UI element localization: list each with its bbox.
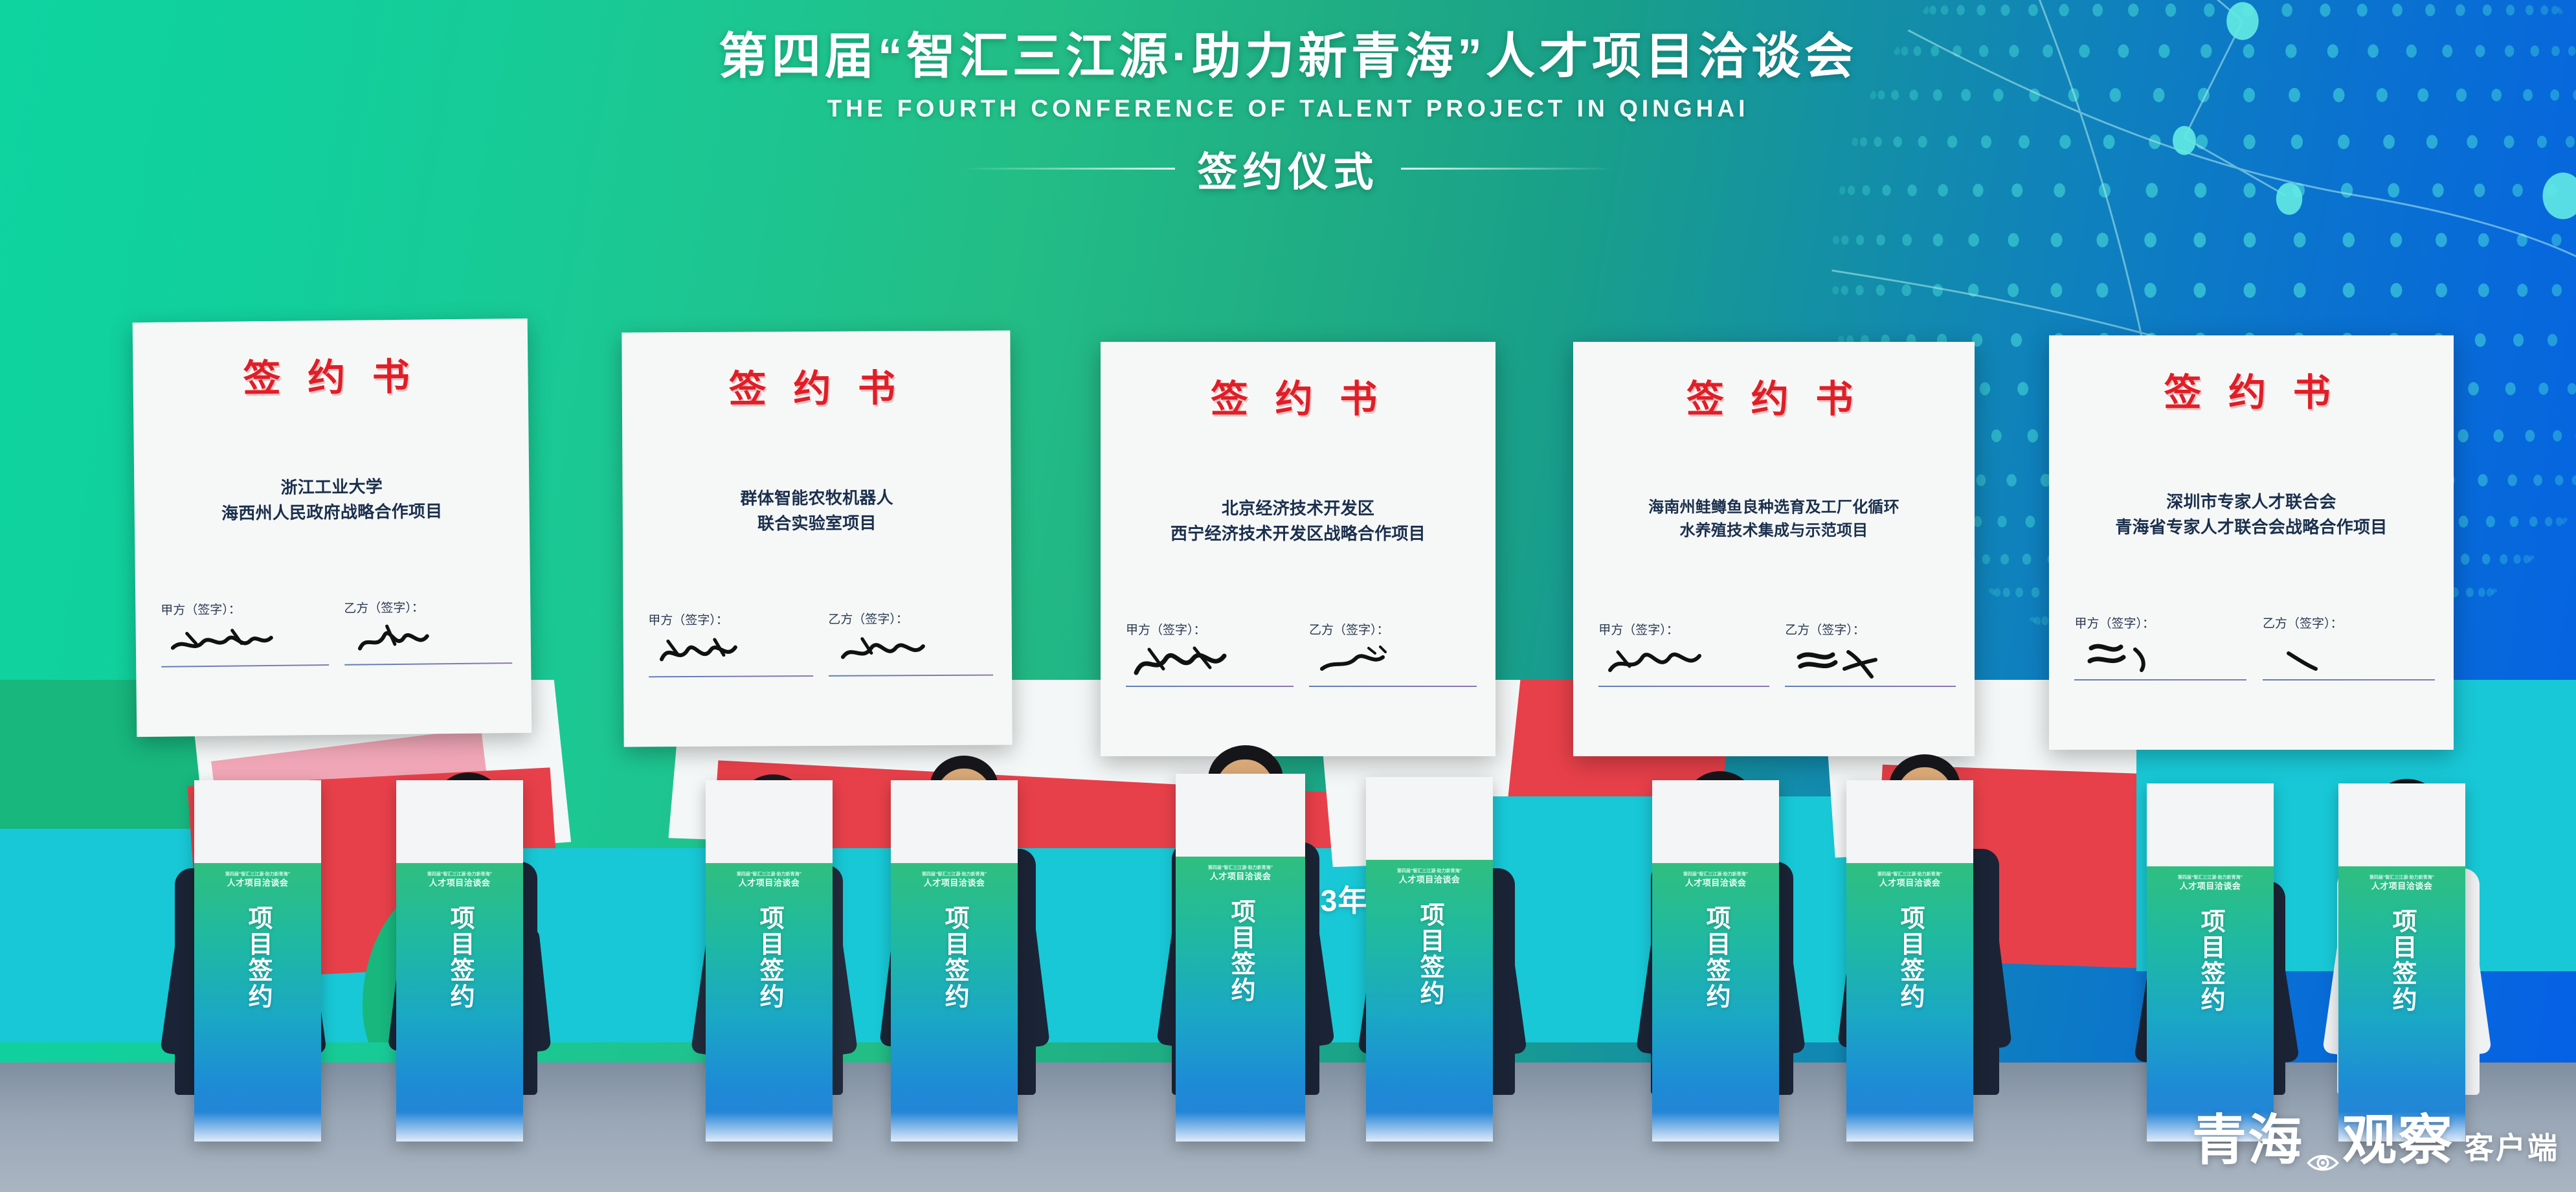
podium-snow-graphic xyxy=(194,1112,321,1141)
podium-logo: 第四届“智汇三江源·助力新青海” 人才项目洽谈会 xyxy=(737,872,801,888)
podium: 第四届“智汇三江源·助力新青海” 人才项目洽谈会 项目签约 xyxy=(1366,777,1493,1141)
podium-vertical-text: 项目签约 xyxy=(2195,908,2225,1013)
podium-snow-graphic xyxy=(891,1112,1018,1141)
podium-logo: 第四届“智汇三江源·助力新青海” 人才项目洽谈会 xyxy=(1397,869,1462,885)
podium-logo: 第四届“智汇三江源·助力新青海” 人才项目洽谈会 xyxy=(922,872,987,888)
ceremony-subtitle: 签约仪式 xyxy=(1197,139,1378,197)
podium-vertical-text: 项目签约 xyxy=(754,905,784,1009)
podium: 第四届“智汇三江源·助力新青海” 人才项目洽谈会 项目签约 xyxy=(1846,780,1973,1141)
podium-vertical-text: 项目签约 xyxy=(1701,905,1730,1009)
watermark-logo-part2: 观察 xyxy=(2342,1097,2454,1175)
stage-scene: 第四届“智汇三江源·助力新青海”人才项目洽谈会 THE FOURTH CONFE… xyxy=(0,0,2576,1192)
podium-vertical-text: 项目签约 xyxy=(1415,902,1444,1006)
podium-snow-graphic xyxy=(1176,1112,1305,1141)
podium-vertical-text: 项目签约 xyxy=(445,905,475,1009)
podium-logo: 第四届“智汇三江源·助力新青海” 人才项目洽谈会 xyxy=(427,872,492,888)
watermark-logo-part1: 青海 xyxy=(2192,1097,2303,1175)
podium-logo: 第四届“智汇三江源·助力新青海” 人才项目洽谈会 xyxy=(225,872,290,888)
podium-logo: 第四届“智汇三江源·助力新青海” 人才项目洽谈会 xyxy=(1877,872,1942,888)
podium-snow-graphic xyxy=(1652,1112,1779,1141)
podium: 第四届“智汇三江源·助力新青海” 人才项目洽谈会 项目签约 xyxy=(1652,780,1779,1141)
podium-vertical-text: 项目签约 xyxy=(2387,908,2417,1013)
podium-snow-graphic xyxy=(706,1112,833,1141)
podium: 第四届“智汇三江源·助力新青海” 人才项目洽谈会 项目签约 xyxy=(706,780,833,1141)
watermark-logo: 青海 观察 xyxy=(2192,1097,2454,1175)
podium: 第四届“智汇三江源·助力新青海” 人才项目洽谈会 项目签约 xyxy=(396,780,523,1141)
podium-vertical-text: 项目签约 xyxy=(939,905,969,1009)
page-title-english: THE FOURTH CONFERENCE OF TALENT PROJECT … xyxy=(0,95,2576,122)
podium-logo: 第四届“智汇三江源·助力新青海” 人才项目洽谈会 xyxy=(2178,875,2243,892)
podium-snow-graphic xyxy=(1846,1112,1973,1141)
podium-snow-graphic xyxy=(396,1112,523,1141)
podium: 第四届“智汇三江源·助力新青海” 人才项目洽谈会 项目签约 xyxy=(891,780,1018,1141)
subtitle-row: 签约仪式 xyxy=(0,139,2576,197)
rule-right xyxy=(1401,168,1615,170)
podium-logo: 第四届“智汇三江源·助力新青海” 人才项目洽谈会 xyxy=(1683,872,1748,888)
watermark: 青海 观察 客户端 xyxy=(2192,1097,2559,1175)
podium-logo: 第四届“智汇三江源·助力新青海” 人才项目洽谈会 xyxy=(1208,866,1273,882)
eye-icon xyxy=(2306,1125,2340,1148)
podium: 第四届“智汇三江源·助力新青海” 人才项目洽谈会 项目签约 xyxy=(194,780,321,1141)
rule-left xyxy=(961,168,1175,170)
podium: 第四届“智汇三江源·助力新青海” 人才项目洽谈会 项目签约 xyxy=(2338,783,2465,1141)
podium-vertical-text: 项目签约 xyxy=(1895,905,1925,1009)
podium-snow-graphic xyxy=(1366,1112,1493,1141)
podium: 第四届“智汇三江源·助力新青海” 人才项目洽谈会 项目签约 xyxy=(1176,774,1305,1141)
page-title: 第四届“智汇三江源·助力新青海”人才项目洽谈会 xyxy=(0,26,2576,87)
podium: 第四届“智汇三江源·助力新青海” 人才项目洽谈会 项目签约 xyxy=(2147,783,2274,1141)
headline-block: 第四届“智汇三江源·助力新青海”人才项目洽谈会 THE FOURTH CONFE… xyxy=(0,26,2576,197)
watermark-app-label: 客户端 xyxy=(2464,1125,2559,1175)
podium-logo: 第四届“智汇三江源·助力新青海” 人才项目洽谈会 xyxy=(2369,875,2434,892)
podium-vertical-text: 项目签约 xyxy=(1226,899,1255,1003)
podium-vertical-text: 项目签约 xyxy=(243,905,273,1009)
